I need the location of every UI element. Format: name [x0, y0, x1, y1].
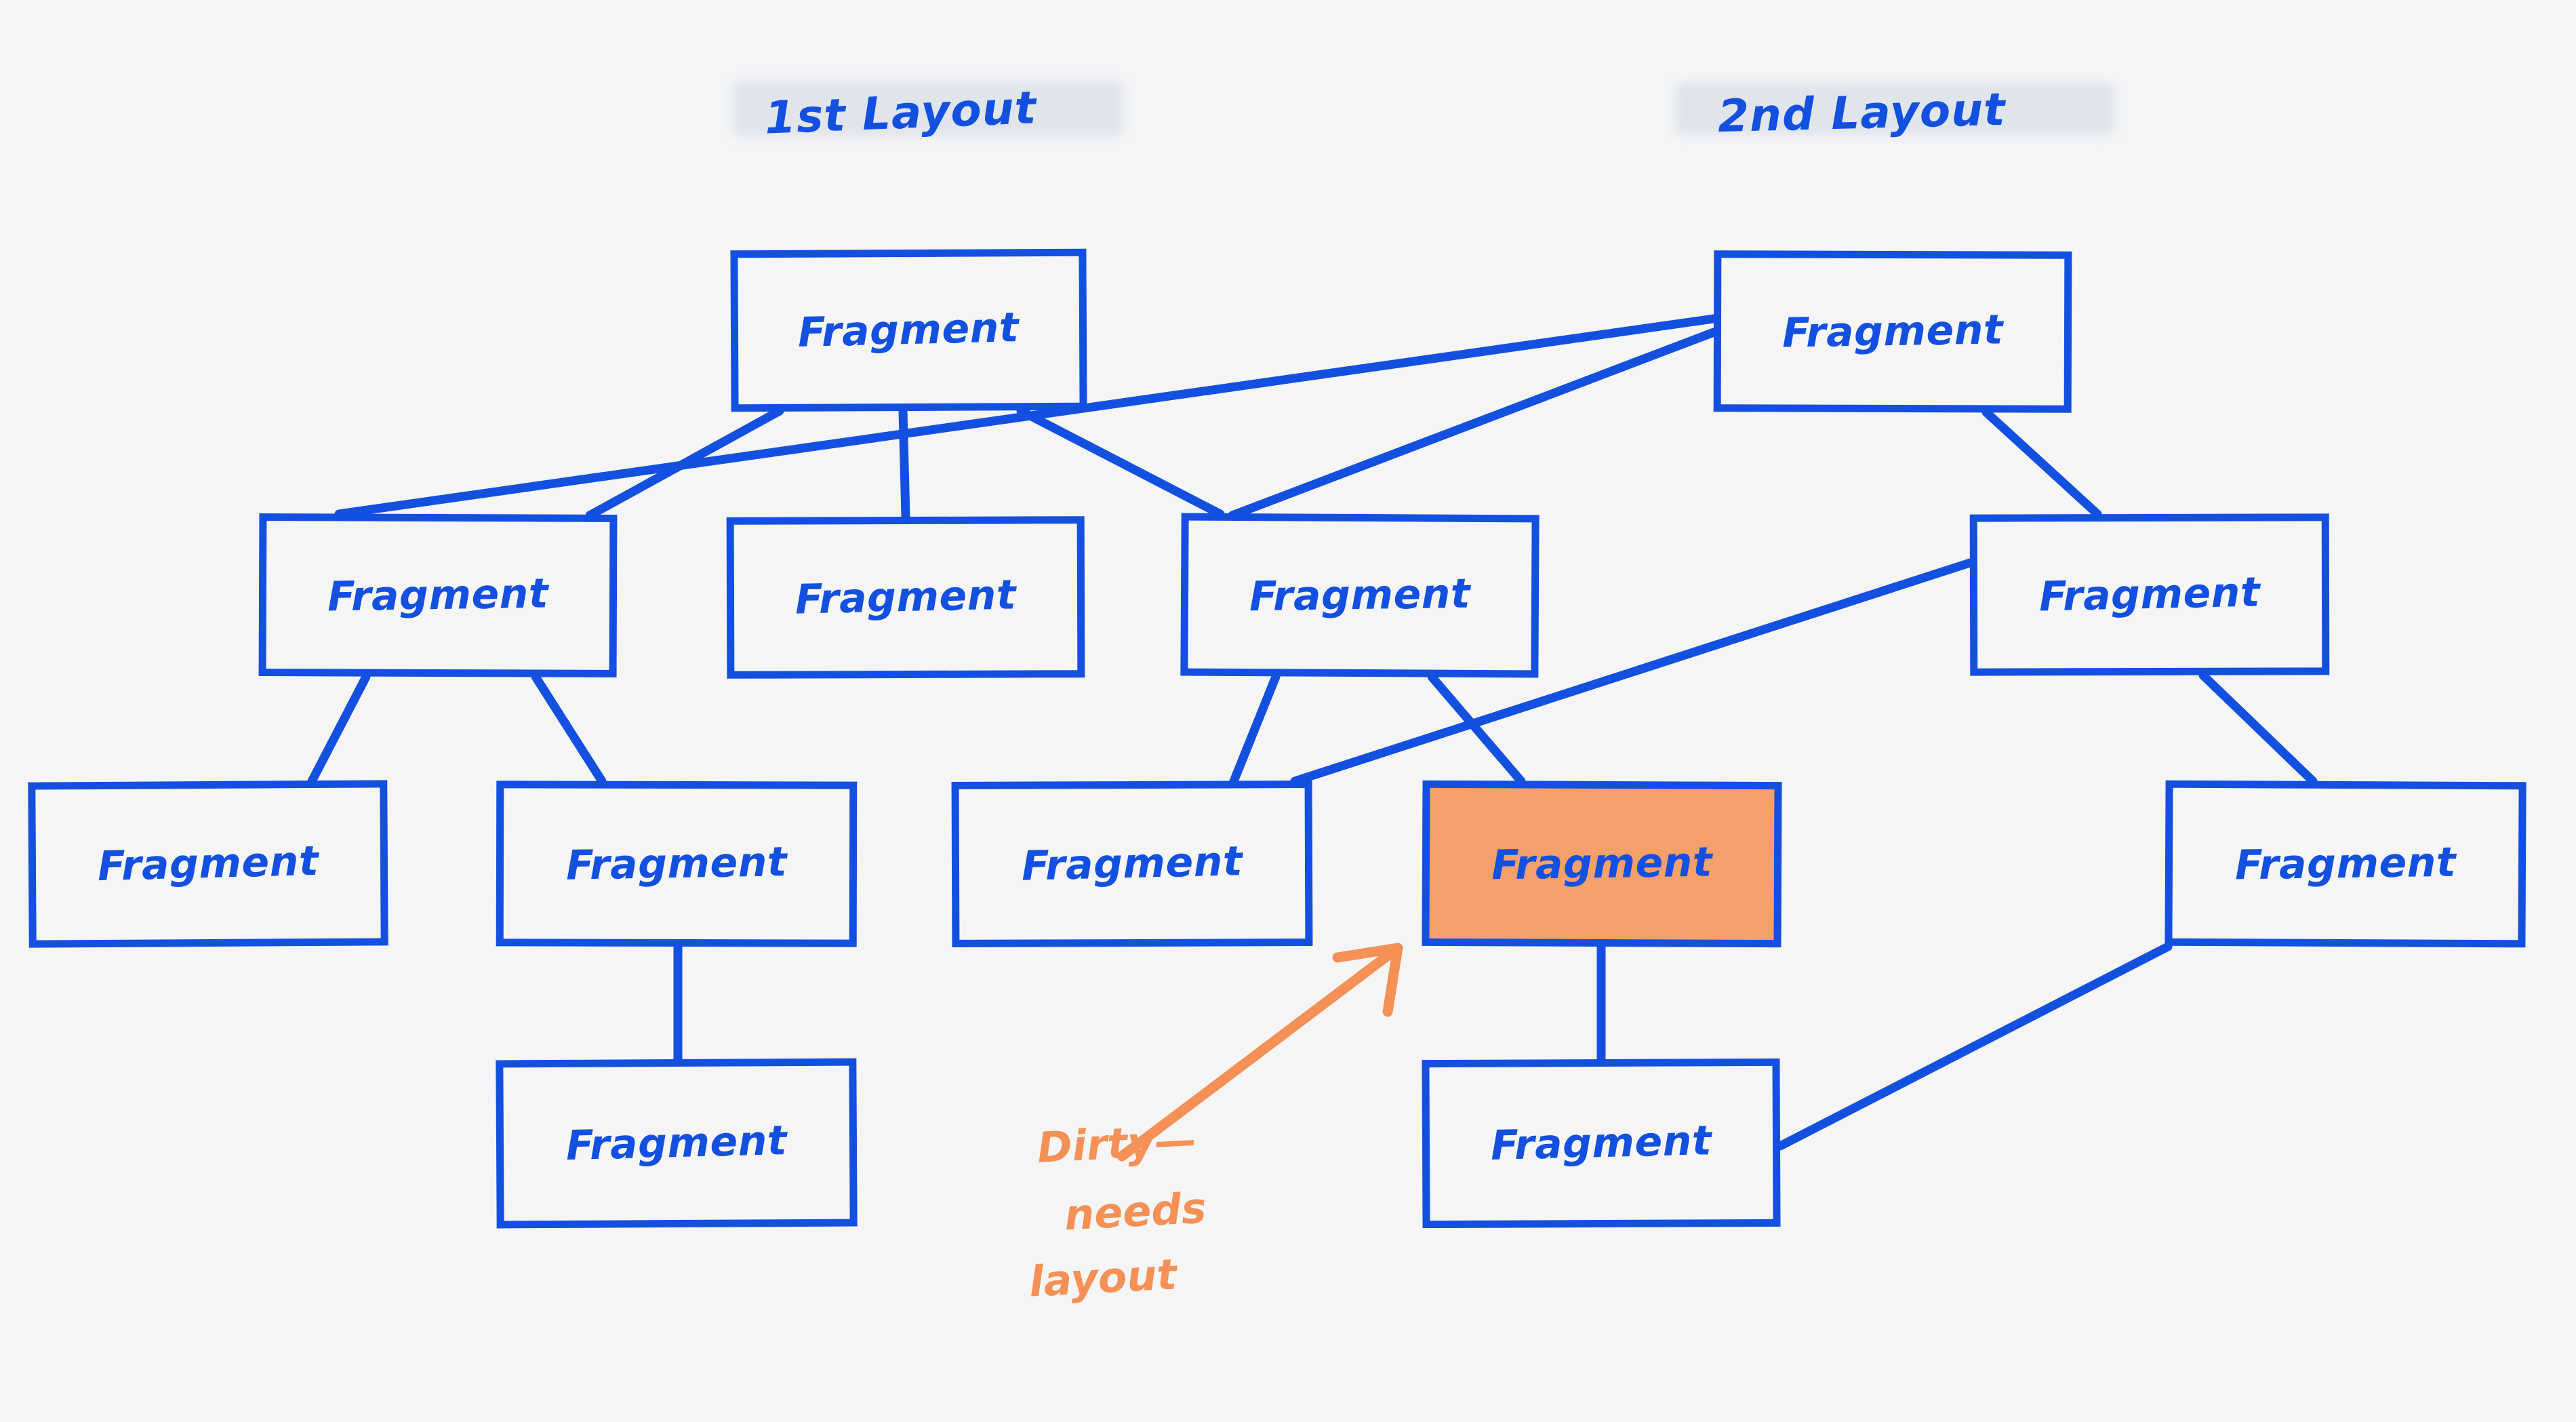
fragment-node-b-deep-1[interactable]: Fragment	[1422, 1059, 1780, 1228]
fragment-node-a-leaf-3[interactable]: Fragment	[952, 781, 1313, 947]
fragment-node-a-mid-1[interactable]: Fragment	[259, 513, 618, 677]
fragment-node-a-mid-3[interactable]: Fragment	[1180, 513, 1539, 678]
fragment-node-a-mid-2[interactable]: Fragment	[727, 516, 1085, 679]
fragment-node-label: Fragment	[1249, 570, 1471, 620]
fragment-node-label: Fragment	[1491, 839, 1712, 890]
fragment-node-label: Fragment	[1782, 306, 2003, 357]
fragment-node-b-mid-1[interactable]: Fragment	[1970, 513, 2330, 675]
fragment-node-a-root[interactable]: Fragment	[730, 249, 1087, 412]
fragment-node-label: Fragment	[2235, 839, 2457, 890]
fragment-node-a-leaf-2[interactable]: Fragment	[496, 781, 858, 947]
edge-b-mid-1-to-b-leaf-1	[2203, 675, 2313, 781]
dirty-annotation-line2: needs	[1063, 1185, 1207, 1240]
edge-a-root-to-a-mid-2	[903, 411, 906, 517]
edge-a-mid-1-to-a-leaf-1	[312, 677, 366, 781]
fragment-node-a-deep-1[interactable]: Fragment	[496, 1059, 857, 1229]
edge-a-mid-1-to-a-leaf-2	[536, 677, 602, 781]
edge-a-mid-3-to-a-leaf-3	[1234, 677, 1276, 781]
second-layout-title: 2nd Layout	[1717, 83, 2006, 142]
fragment-node-label: Fragment	[794, 571, 1017, 623]
fragment-node-label: Fragment	[2038, 568, 2260, 620]
dirty-annotation-line1: Dirty—	[1036, 1116, 1198, 1172]
edge-a-root-to-a-mid-1	[590, 411, 780, 515]
first-layout-title: 1st Layout	[764, 81, 1038, 144]
fragment-node-a-leaf-1[interactable]: Fragment	[28, 780, 388, 947]
fragment-node-b-root[interactable]: Fragment	[1714, 250, 2072, 413]
fragment-node-label: Fragment	[798, 304, 1020, 357]
dirty-annotation-line3: layout	[1028, 1250, 1178, 1306]
edge-b-root-to-a-mid-3	[1232, 332, 1714, 515]
edge-layer	[0, 0, 2576, 1422]
edge-b-root-to-b-mid-1	[1986, 412, 2097, 514]
edge-a-mid-3-to-a-leaf-4	[1432, 677, 1521, 781]
fragment-node-b-leaf-1[interactable]: Fragment	[2165, 781, 2526, 948]
fragment-node-label: Fragment	[1490, 1117, 1712, 1170]
fragment-node-label: Fragment	[565, 1117, 788, 1170]
edge-a-root-to-a-mid-3	[1021, 411, 1220, 514]
fragment-node-a-leaf-4[interactable]: Fragment	[1422, 781, 1782, 947]
fragment-node-label: Fragment	[327, 570, 548, 620]
fragment-node-label: Fragment	[97, 837, 319, 890]
fragment-node-label: Fragment	[1021, 837, 1243, 890]
edge-b-leaf-1-to-b-deep-1	[1780, 947, 2168, 1146]
fragment-node-label: Fragment	[565, 838, 787, 889]
diagram-canvas: 1st Layout 2nd Layout FragmentFragmentFr…	[0, 0, 2576, 1422]
